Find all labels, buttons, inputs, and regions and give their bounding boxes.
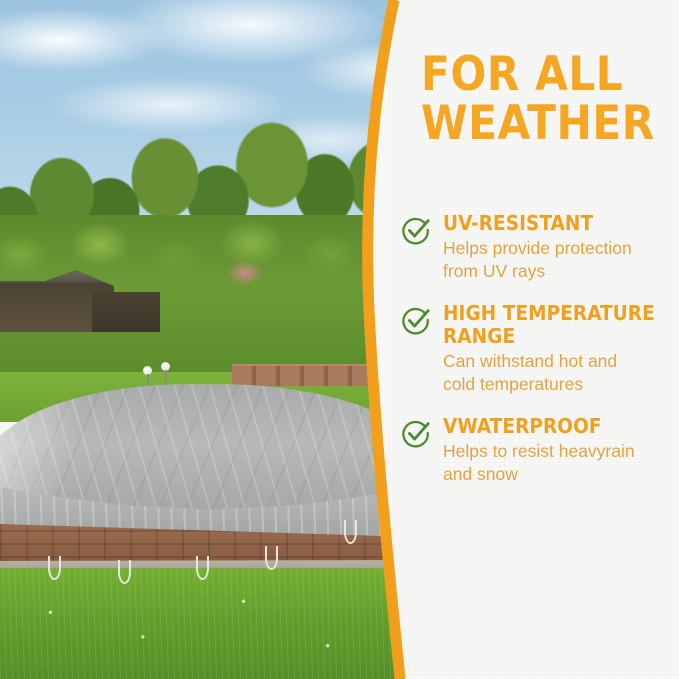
- feature-description-line-2: from UV rays: [443, 260, 679, 283]
- check-circle-icon: [401, 305, 431, 335]
- feature-description: Can withstand hot and cold temperatures: [443, 350, 679, 396]
- garden-light: [161, 362, 170, 371]
- feature-description-line-1: Helps to resist heavyrain: [443, 440, 679, 463]
- feature-item-high-temperature-range: HIGH TEMPERATURE RANGE Can withstand hot…: [395, 302, 679, 396]
- feature-title: UV-RESISTANT: [443, 212, 679, 235]
- feature-description: Helps to resist heavyrain and snow: [443, 440, 679, 486]
- headline-line-2: WEATHER: [421, 99, 671, 148]
- feature-description-line-2: cold temperatures: [443, 373, 679, 396]
- feature-description-line-1: Can withstand hot and: [443, 350, 679, 373]
- garden-light: [143, 366, 152, 375]
- feature-title: VWATERPROOF: [443, 415, 679, 438]
- feature-description-line-1: Helps provide protection: [443, 237, 679, 260]
- feature-description: Helps provide protection from UV rays: [443, 237, 679, 283]
- tie-down-cord: [118, 560, 131, 584]
- tie-down-cord: [265, 546, 278, 570]
- feature-description-line-2: and snow: [443, 463, 679, 486]
- check-circle-icon: [401, 418, 431, 448]
- page-title: FOR ALL WEATHER: [421, 50, 671, 148]
- feature-item-waterproof: VWATERPROOF Helps to resist heavyrain an…: [395, 415, 679, 486]
- front-lawn: [0, 568, 420, 679]
- feature-panel: FOR ALL WEATHER UV-RESISTANT Helps provi…: [389, 0, 679, 679]
- feature-list: UV-RESISTANT Helps provide protection fr…: [395, 212, 679, 505]
- feature-title: HIGH TEMPERATURE RANGE: [443, 302, 679, 348]
- check-circle-icon: [401, 215, 431, 245]
- feature-item-uv-resistant: UV-RESISTANT Helps provide protection fr…: [395, 212, 679, 283]
- tie-down-cord: [196, 556, 209, 580]
- garden-shed-wall: [92, 292, 160, 332]
- tie-down-cord: [48, 556, 61, 580]
- headline-line-1: FOR ALL: [421, 50, 671, 99]
- promo-graphic: FOR ALL WEATHER UV-RESISTANT Helps provi…: [0, 0, 679, 679]
- product-photo: [0, 0, 420, 679]
- tie-down-cord: [344, 520, 357, 544]
